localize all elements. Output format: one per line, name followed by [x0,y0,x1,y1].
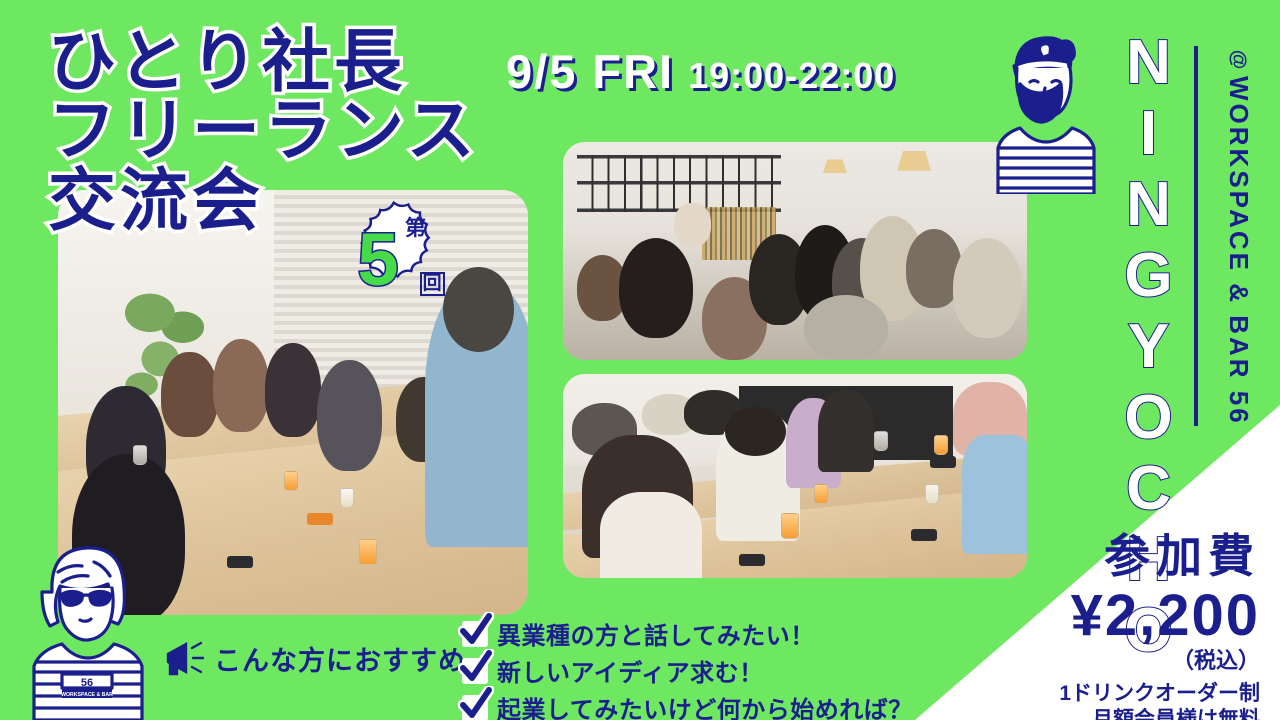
photo-bar-venue [563,142,1027,360]
checklist-label: 異業種の方と話してみたい！ [497,616,815,651]
list-item: 起業してみたいけど何から始めれば？ [462,690,913,720]
recommend-heading-row: こんな方におすすめ [160,638,466,678]
bearded-man-illustration [990,26,1102,194]
sunglasses-person-illustration: 56 WORKSPACE & BAR [22,536,154,720]
checklist-label: 新しいアイディア求む！ [497,653,764,688]
badge-number: 5 [358,223,399,297]
title-line-2: フリーランス [48,99,479,164]
venue-divider-rule [1194,46,1198,426]
at-symbol: @ [1227,50,1250,70]
event-date-time: 9/5 FRI 19:00-22:00 [506,44,895,99]
badge-prefix: 第 [405,212,426,242]
photo-table-talk [563,374,1027,578]
price-label: 参加費 [960,520,1260,586]
shirt-badge-text: WORKSPACE & BAR [61,692,113,698]
megaphone-icon [160,638,206,678]
check-icon [462,695,488,720]
check-icon [462,658,488,684]
list-item: 異業種の方と話してみたい！ [462,616,913,651]
recommend-heading: こんな方におすすめ [214,639,466,678]
price-note-line-1: 1ドリンクオーダー制 [960,681,1260,707]
event-flyer: ひとり社長 フリーランス 交流会 9/5 FRI 19:00-22:00 第 5… [0,0,1280,720]
price-amount: ¥2,200 [960,582,1260,649]
event-date: 9/5 FRI [506,44,674,99]
edition-badge: 第 5 回 [322,194,470,324]
price-block: 参加費 ¥2,200 （税込） 1ドリンクオーダー制 月額会員様は無料 [960,520,1260,720]
checklist-label: 起業してみたいけど何から始めれば？ [497,690,913,720]
price-note-line-2: 月額会員様は無料 [960,707,1260,720]
title-line-1: ひとり社長 [48,30,479,95]
list-item: 新しいアイディア求む！ [462,653,913,688]
venue-detail: WORKSPACE & BAR 56 [1223,76,1254,426]
badge-suffix: 回 [420,272,445,296]
recommend-checklist: 異業種の方と話してみたい！ 新しいアイディア求む！ 起業してみたいけど何から始め… [462,616,913,720]
event-time: 19:00-22:00 [688,55,895,97]
check-icon [462,621,488,647]
shirt-badge-number: 56 [81,677,93,689]
